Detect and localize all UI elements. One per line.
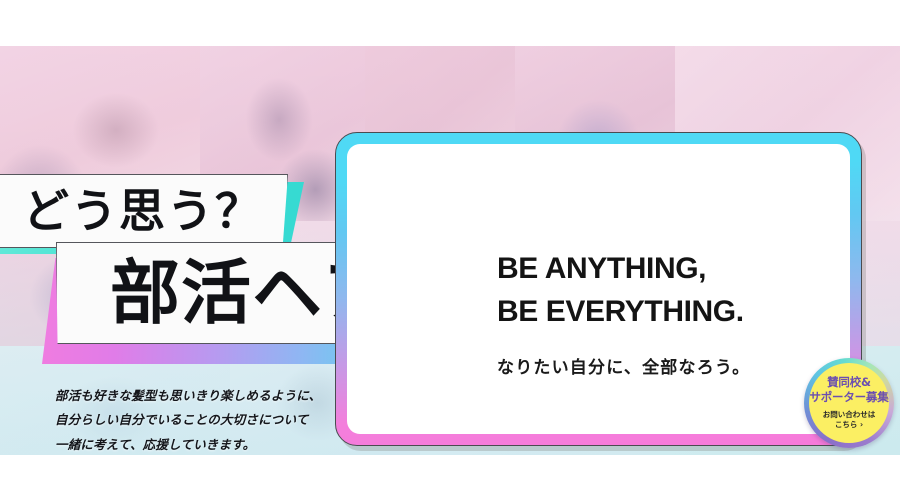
hero-banner: asics KOBE KORYO どう思う？ 部活ヘア [0,46,900,455]
banner-primary-text: どう思う？ [23,188,263,234]
contact-cta-badge-subtitle: お問い合わせは こちら › [823,410,876,431]
contact-cta-badge-face: 賛同校& サポーター募集 お問い合わせは こちら › [809,363,889,443]
headline-banner-primary: どう思う？ [0,174,304,250]
contact-cta-badge[interactable]: 賛同校& サポーター募集 お問い合わせは こちら › [804,358,894,448]
banner-primary-plate: どう思う？ [0,174,288,248]
message-panel-content: BE ANYTHING, BE EVERYTHING. なりたい自分に、全部なろ… [497,248,826,378]
lead-copy-line-1: 部活も好きな髪型も思いきり楽しめるように、 [55,384,355,408]
lead-copy-line-2: 自分らしい自分でいることの大切さについて [55,408,355,432]
message-panel: BE ANYTHING, BE EVERYTHING. なりたい自分に、全部なろ… [335,132,862,446]
contact-cta-badge-title-line-2: サポーター募集 [809,390,888,404]
contact-cta-badge-subtitle-line-1: お問い合わせは [823,410,876,419]
panel-headline-line-1: BE ANYTHING, [497,248,826,291]
contact-cta-badge-title: 賛同校& サポーター募集 [809,375,888,404]
hero-page: asics KOBE KORYO どう思う？ 部活ヘア [0,0,900,500]
panel-headline-line-2: BE EVERYTHING. [497,291,826,334]
contact-cta-badge-title-line-1: 賛同校& [827,375,871,389]
message-panel-inner: BE ANYTHING, BE EVERYTHING. なりたい自分に、全部なろ… [347,144,850,434]
lead-copy-line-3: 一緒に考えて、応援していきます。 [55,433,355,455]
contact-cta-badge-subtitle-line-2: こちら › [835,420,863,429]
panel-subline: なりたい自分に、全部なろう。 [497,353,826,378]
lead-copy: 部活も好きな髪型も思いきり楽しめるように、 自分らしい自分でいることの大切さにつ… [55,384,355,455]
